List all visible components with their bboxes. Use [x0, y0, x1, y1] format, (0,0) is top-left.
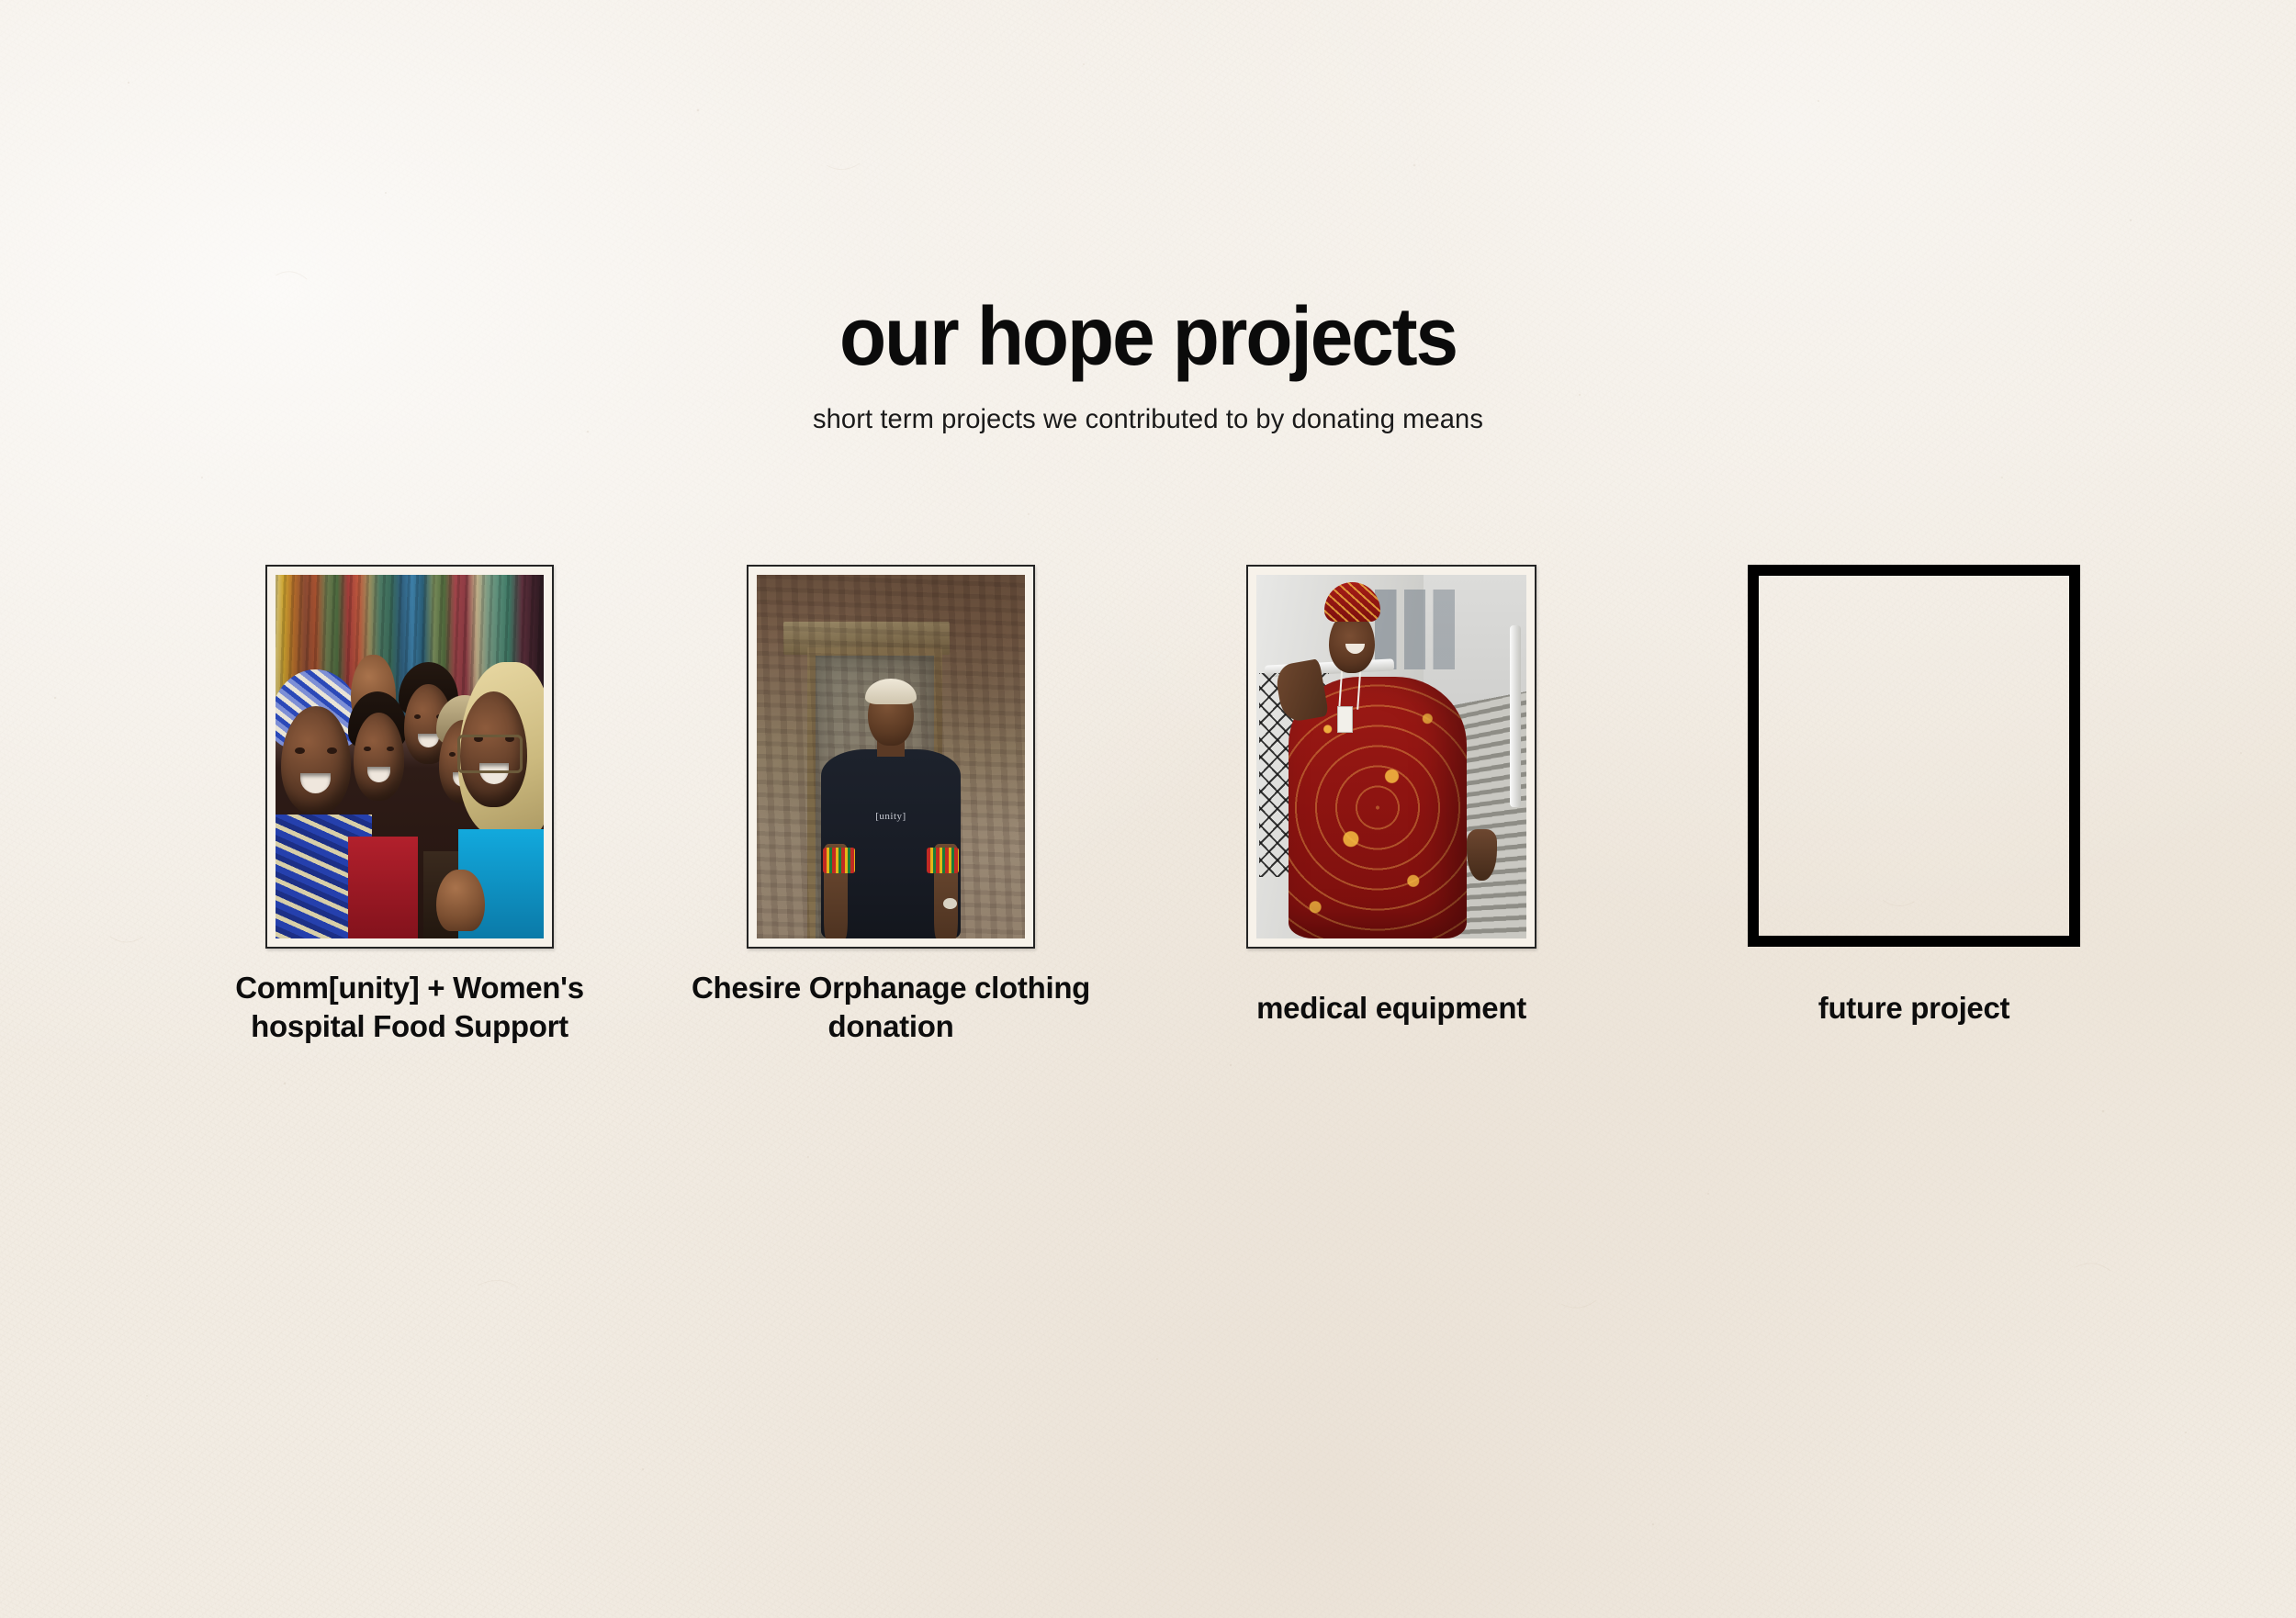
project-caption: Chesire Orphanage clothing donation [652, 969, 1130, 1046]
project-card-community-food-support[interactable]: Comm[unity] + Women's hospital Food Supp… [265, 565, 554, 949]
project-caption: medical equipment [1176, 989, 1607, 1028]
project-card-future-project[interactable]: future project [1748, 565, 2080, 947]
page-title: our hope projects [81, 296, 2216, 378]
project-caption: future project [1721, 989, 2107, 1028]
project-card-chesire-orphanage[interactable]: [unity] Chesire Orphanage clothing donat… [747, 565, 1035, 949]
project-photo-frame[interactable] [265, 565, 554, 949]
projects-gallery: Comm[unity] + Women's hospital Food Supp… [0, 565, 2296, 1116]
project-caption: Comm[unity] + Women's hospital Food Supp… [194, 969, 625, 1046]
project-photo-frame[interactable]: [unity] [747, 565, 1035, 949]
page-subtitle: short term projects we contributed to by… [35, 406, 2262, 433]
project-photo-frame[interactable] [1246, 565, 1536, 949]
project-photo-man-unity-shirt: [unity] [757, 575, 1025, 938]
future-project-placeholder-square[interactable] [1748, 565, 2080, 947]
project-photo-women-group [276, 575, 544, 938]
project-photo-woman-red-dress [1256, 575, 1526, 938]
project-card-medical-equipment[interactable]: medical equipment [1246, 565, 1536, 949]
page-header: our hope projects short term projects we… [0, 0, 2296, 433]
shirt-graphic-text: [unity] [875, 811, 906, 822]
